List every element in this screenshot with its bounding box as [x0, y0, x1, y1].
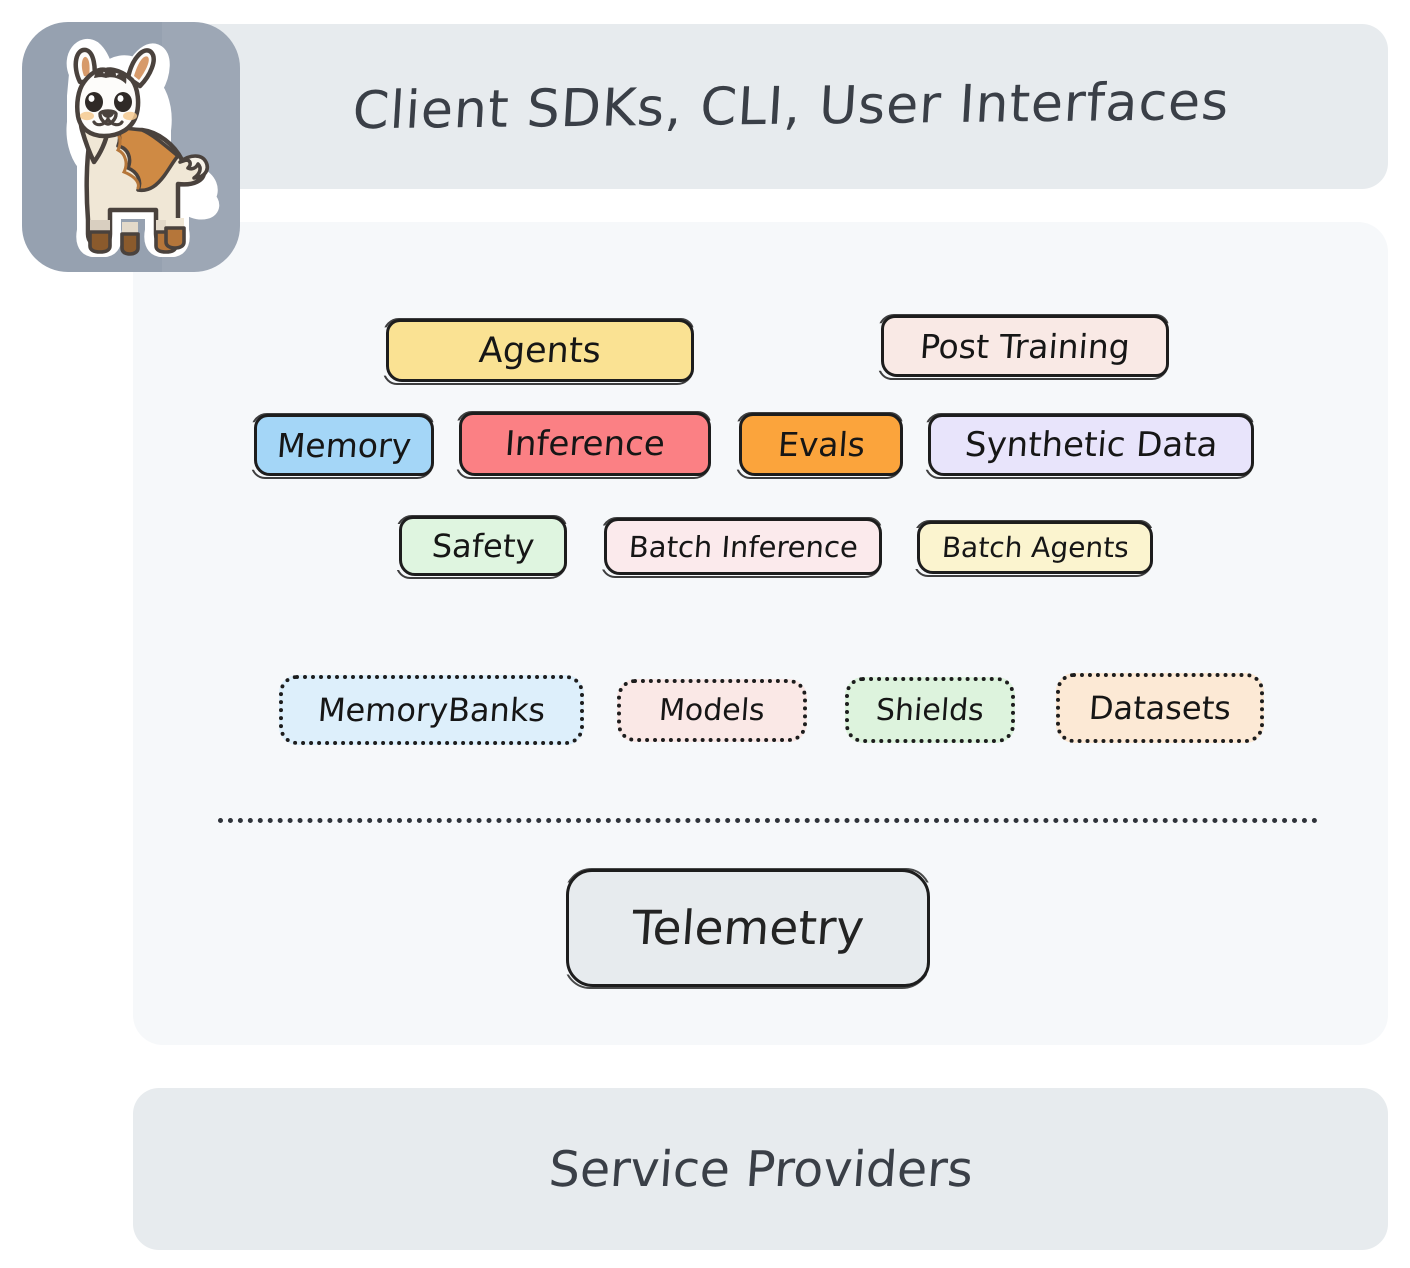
api-box-post-training[interactable]: Post Training	[881, 315, 1169, 377]
api-box-synthetic-data[interactable]: Synthetic Data	[928, 414, 1254, 476]
api-box-label: Agents	[478, 331, 603, 371]
api-box-label: Post Training	[919, 327, 1131, 366]
api-box-label: Batch Inference	[627, 530, 858, 564]
api-box-evals[interactable]: Evals	[739, 413, 903, 476]
api-box-safety[interactable]: Safety	[399, 516, 567, 576]
api-box-label: Safety	[430, 527, 535, 565]
resource-box-memorybanks[interactable]: MemoryBanks	[279, 675, 584, 745]
api-box-label: Inference	[504, 424, 667, 464]
api-box-inference[interactable]: Inference	[459, 412, 711, 476]
api-box-label: Memory	[276, 426, 413, 465]
telemetry-box[interactable]: Telemetry	[566, 869, 930, 987]
telemetry-label: Telemetry	[630, 901, 866, 956]
api-box-memory[interactable]: Memory	[254, 414, 434, 476]
api-box-label: Synthetic Data	[963, 425, 1218, 465]
api-box-agents[interactable]: Agents	[386, 319, 694, 382]
service-providers-bar: Service Providers	[133, 1088, 1388, 1250]
llama-logo-badge	[22, 22, 240, 272]
section-divider	[218, 818, 1318, 823]
api-box-batch-agents[interactable]: Batch Agents	[917, 521, 1153, 574]
resource-box-shields[interactable]: Shields	[845, 677, 1015, 743]
resource-box-label: MemoryBanks	[317, 691, 547, 729]
service-providers-label: Service Providers	[547, 1141, 975, 1198]
api-box-label: Evals	[776, 425, 866, 464]
resource-box-label: Datasets	[1088, 689, 1233, 727]
llama-mascot-icon	[38, 34, 228, 262]
resource-box-label: Models	[658, 693, 766, 728]
resource-box-datasets[interactable]: Datasets	[1056, 673, 1264, 743]
page-title: Client SDKs, CLI, User Interfaces	[290, 72, 1230, 142]
api-box-batch-inference[interactable]: Batch Inference	[604, 518, 882, 575]
client-layer-bar: Client SDKs, CLI, User Interfaces	[133, 24, 1388, 189]
api-box-label: Batch Agents	[940, 531, 1129, 564]
resource-box-models[interactable]: Models	[617, 679, 807, 742]
resource-box-label: Shields	[875, 693, 985, 728]
